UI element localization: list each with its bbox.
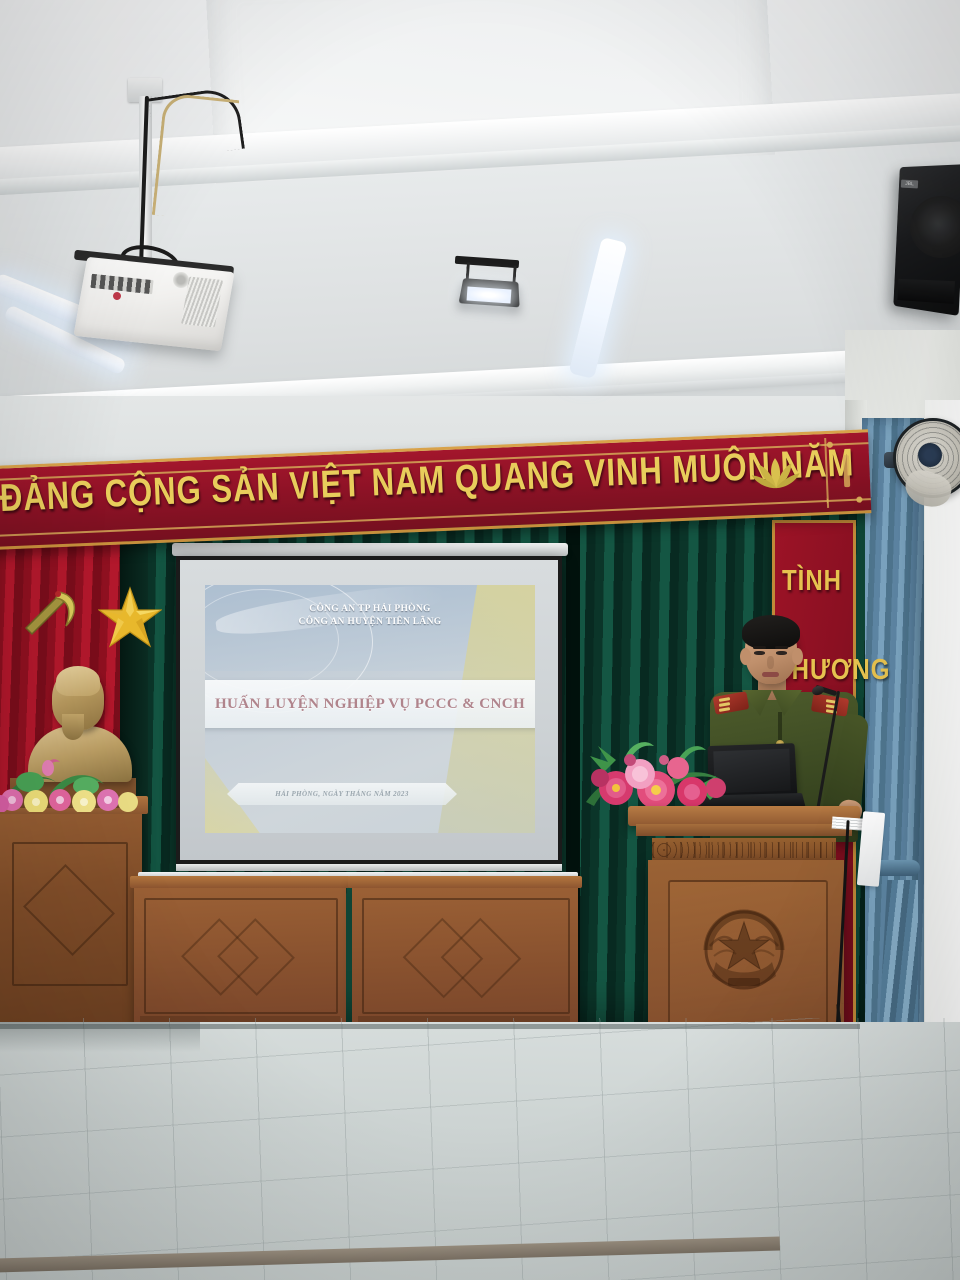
projector-cable-yellow: [152, 92, 239, 222]
screen-bottom-bar: [176, 864, 562, 871]
slide-org-line2: CÔNG AN HUYỆN TIÊN LÃNG: [205, 616, 535, 629]
officer-mouth: [762, 672, 779, 677]
slide-title: HUẤN LUYỆN NGHIỆP VỤ PCCC & CNCH: [215, 696, 525, 713]
conference-hall-photo: JBL: [0, 0, 960, 1280]
presentation-slide: CÔNG AN TP HẢI PHÒNG CÔNG AN HUYỆN TIÊN …: [205, 585, 535, 833]
bust-forehead: [56, 666, 100, 696]
lotus-icon: [751, 455, 800, 491]
speaker-bass-port: [897, 279, 954, 304]
podium-top-surface: [628, 806, 860, 826]
banner-end-cap: [843, 455, 850, 487]
fan-hub: [918, 443, 942, 467]
slide-organization: CÔNG AN TP HẢI PHÒNG CÔNG AN HUYỆN TIÊN …: [205, 603, 535, 629]
screen-roller-housing: [172, 543, 568, 556]
bust-flower-arrangement: [0, 742, 144, 812]
vietnam-national-emblem: [698, 906, 790, 1002]
slide-decor-left: [205, 723, 267, 833]
podium-molding: [636, 824, 852, 836]
slide-org-line1: CÔNG AN TP HẢI PHÒNG: [205, 603, 535, 616]
floor-shadow: [0, 1022, 200, 1052]
hammer-and-sickle-icon: [18, 582, 84, 640]
slide-date-box: HẢI PHÒNG, NGÀY THÁNG NĂM 2023: [227, 783, 457, 805]
podium-flower-arrangement: [580, 716, 740, 820]
officer-ear-left: [740, 648, 751, 665]
officer-nose: [767, 656, 774, 669]
bust-beard: [62, 714, 84, 740]
gold-star-icon: [98, 586, 162, 648]
officer-brow-right: [775, 646, 788, 649]
cabinet-top-right: [348, 876, 582, 888]
vertical-banner-line1: TÌNH: [776, 537, 848, 626]
slide-title-box: HUẤN LUYỆN NGHIỆP VỤ PCCC & CNCH: [205, 680, 535, 728]
officer-eye-left: [754, 651, 765, 655]
spotlight-lens: [467, 286, 512, 303]
slide-date-line: HẢI PHÒNG, NGÀY THÁNG NĂM 2023: [275, 790, 408, 798]
podium-scroll-carving: [652, 842, 836, 858]
officer-eye-right: [776, 651, 787, 655]
floor-tile-grid: [0, 1018, 960, 1280]
podium-carved-band: [652, 838, 836, 862]
officer-brow-left: [753, 646, 766, 649]
officer-hair: [742, 615, 800, 649]
officer-ear-right: [792, 648, 803, 665]
cabinet-top-left: [130, 876, 350, 888]
speaker-brand-label: JBL: [901, 180, 918, 189]
